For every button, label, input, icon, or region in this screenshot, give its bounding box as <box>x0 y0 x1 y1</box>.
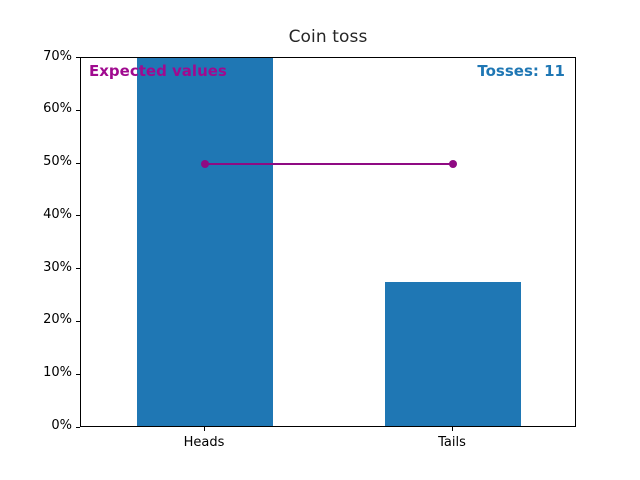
y-tick-label: 30% <box>4 260 72 275</box>
plot-area: Expected values Tosses: 11 <box>80 57 576 427</box>
y-tick-label: 0% <box>4 418 72 433</box>
x-tick-label-heads: Heads <box>144 435 264 450</box>
x-tick-mark <box>452 427 453 431</box>
y-tick-label: 70% <box>4 49 72 64</box>
x-tick-mark <box>204 427 205 431</box>
y-tick-label: 60% <box>4 101 72 116</box>
tosses-counter-annotation: Tosses: 11 <box>477 62 565 80</box>
expected-marker-tails <box>449 160 457 168</box>
bar-tails[interactable] <box>385 282 521 426</box>
y-tick-label: 20% <box>4 312 72 327</box>
expected-values-annotation: Expected values <box>89 62 227 80</box>
y-tick-label: 40% <box>4 207 72 222</box>
page-title: Coin toss <box>80 27 576 47</box>
y-tick-label: 50% <box>4 154 72 169</box>
y-tick-label: 10% <box>4 365 72 380</box>
coin-toss-chart-figure: Coin toss 0%10%20%30%40%50%60%70% HeadsT… <box>0 0 640 480</box>
x-tick-label-tails: Tails <box>392 435 512 450</box>
bar-heads[interactable] <box>137 57 273 426</box>
expected-values-line <box>205 163 453 165</box>
